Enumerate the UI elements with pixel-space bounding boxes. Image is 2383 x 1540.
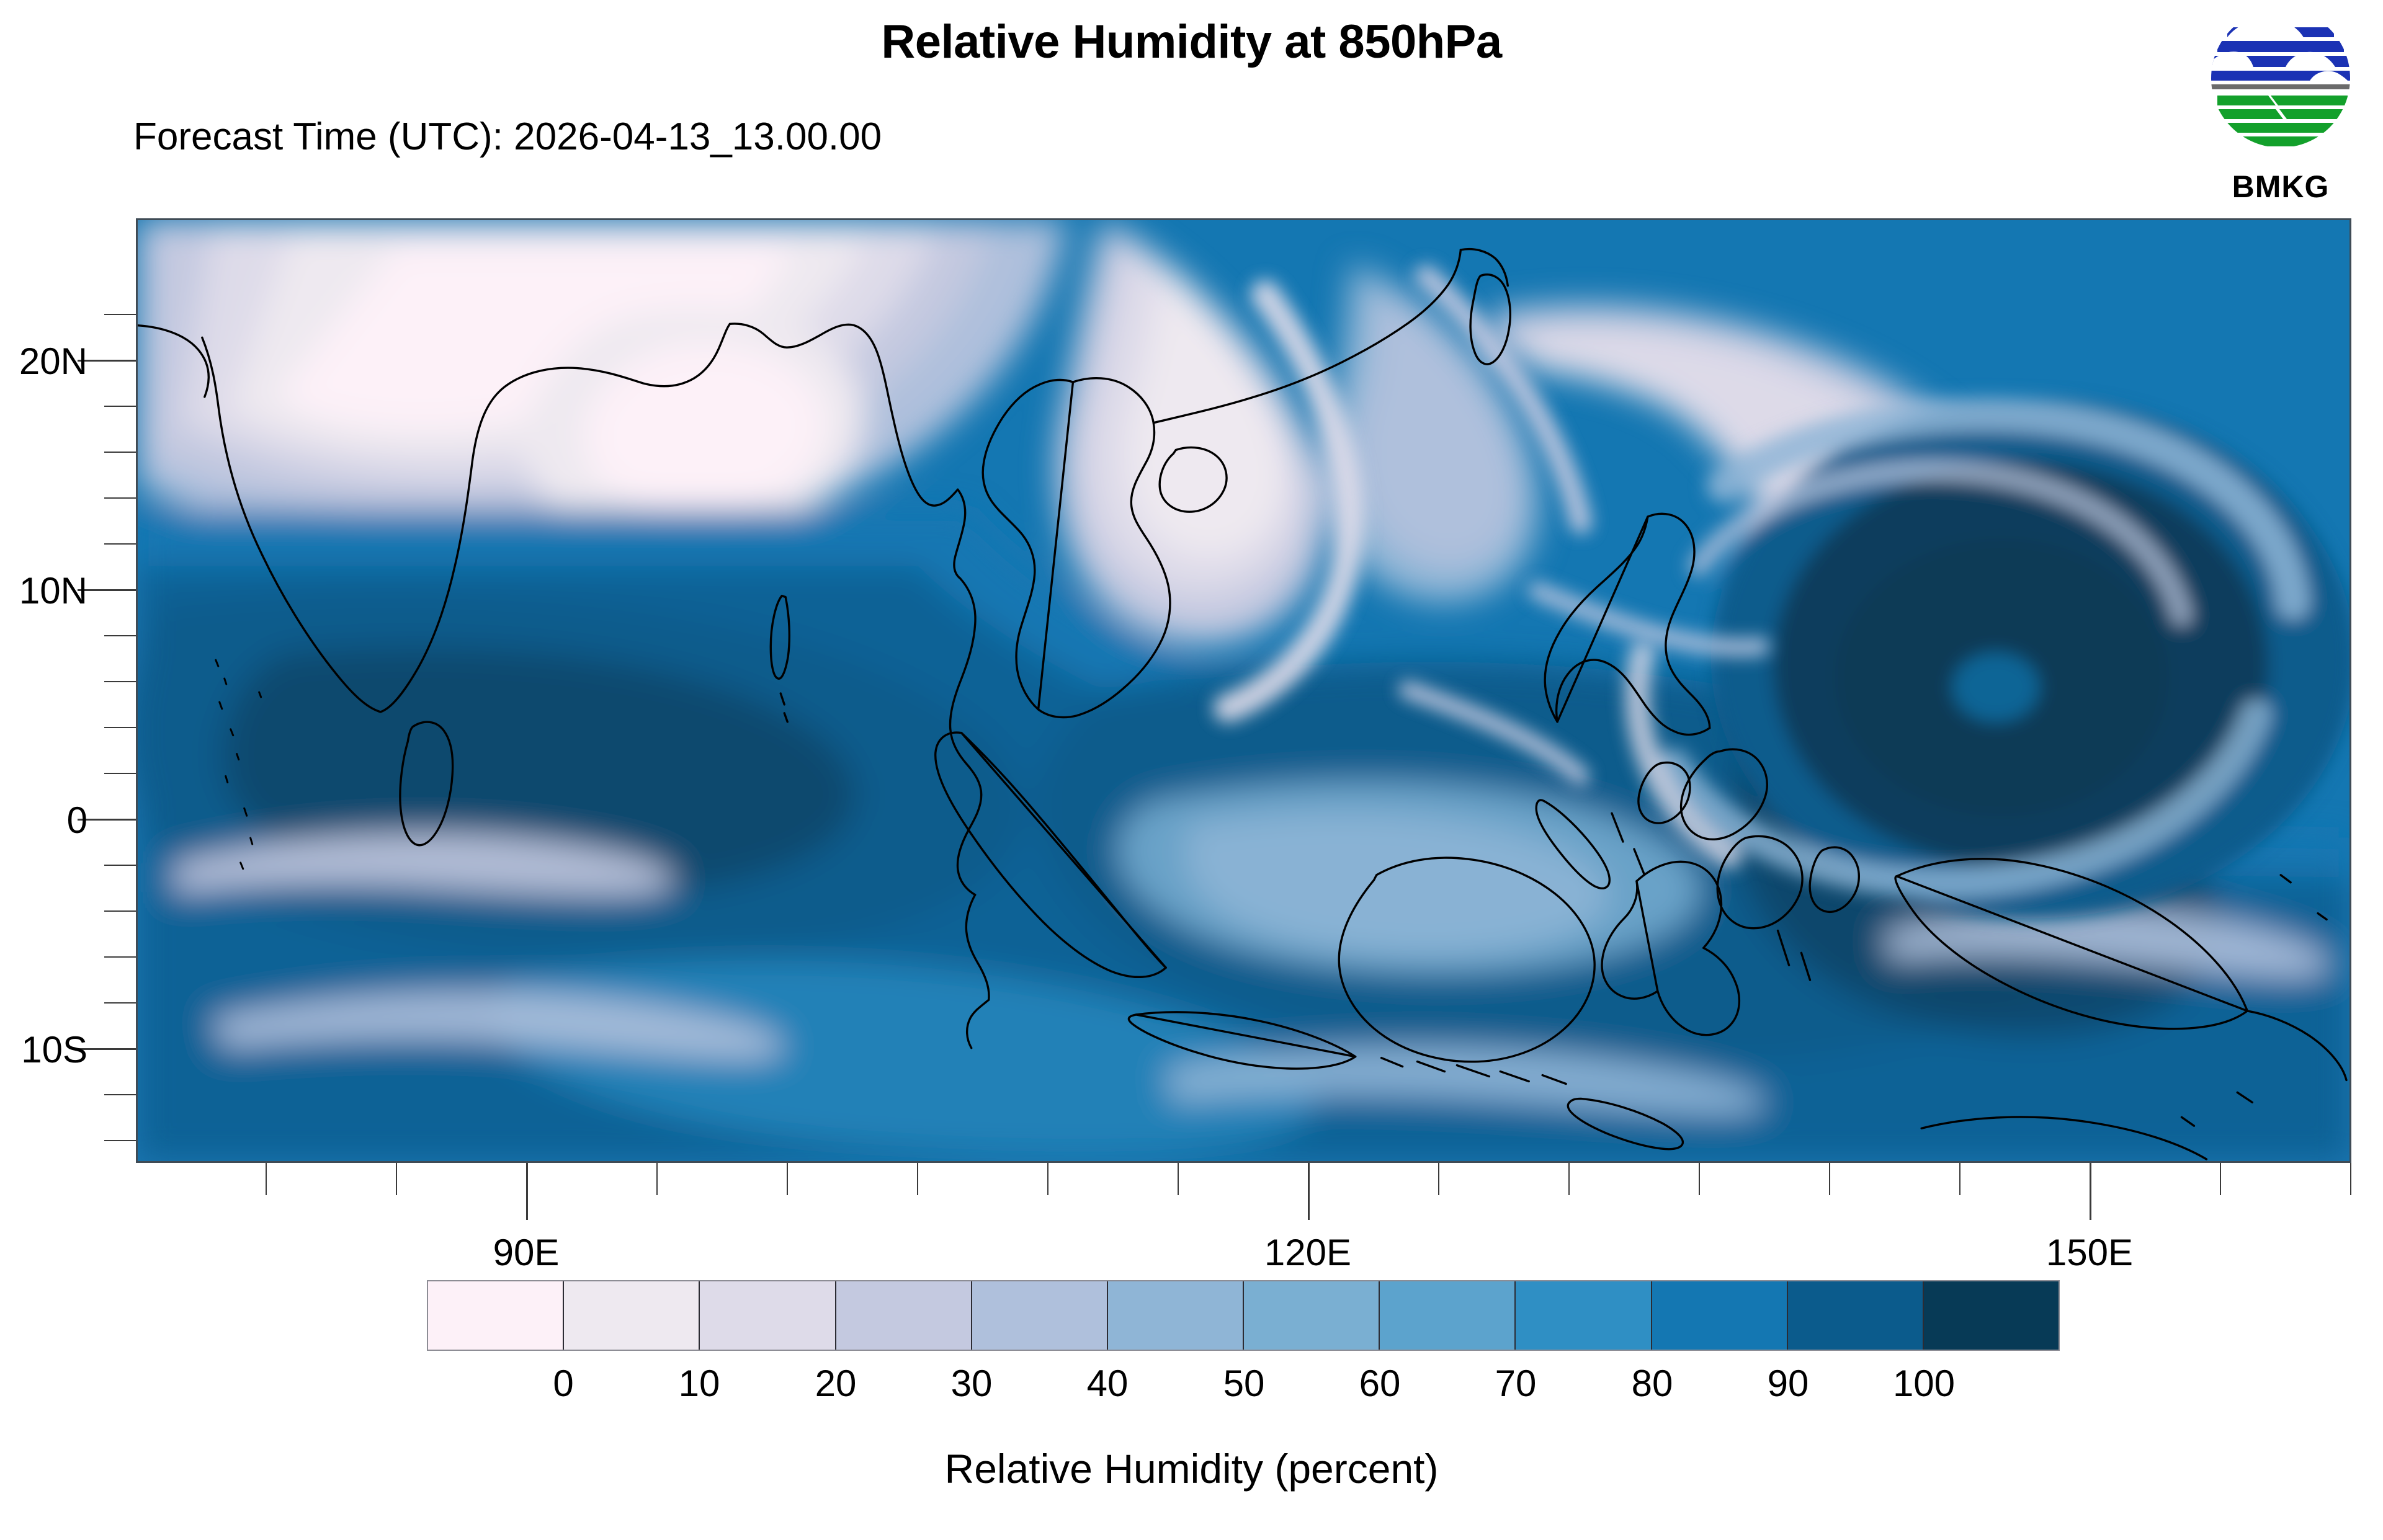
- colorbar-cell-10: [1788, 1281, 1924, 1350]
- colorbar-cell-7: [1380, 1281, 1516, 1350]
- xtick-label-150e: 150E: [1996, 1231, 2183, 1274]
- colorbar-cell-8: [1516, 1281, 1652, 1350]
- humidity-field: [138, 220, 2349, 1161]
- page-title: Relative Humidity at 850hPa: [0, 15, 2383, 69]
- ytick-label-10n: 10N: [0, 569, 87, 612]
- ytick-label-20n: 20N: [0, 340, 87, 383]
- xtick-minor: [1959, 1163, 1960, 1195]
- colorbar[interactable]: [427, 1280, 2060, 1351]
- tropical-cyclone-swirl: [1637, 399, 2349, 919]
- ytick-minor: [104, 865, 136, 866]
- ytick-minor: [104, 1094, 136, 1095]
- colorbar-cell-6: [1244, 1281, 1380, 1350]
- xtick-minor: [656, 1163, 658, 1195]
- xtick-minor: [396, 1163, 397, 1195]
- ytick-minor: [104, 543, 136, 545]
- colorbar-cell-2: [700, 1281, 836, 1350]
- ytick-minor: [104, 452, 136, 453]
- colorbar-cell-11: [1924, 1281, 2059, 1350]
- bmkg-wordmark: BMKG: [2206, 169, 2355, 205]
- ytick-minor: [104, 727, 136, 728]
- ytick-minor: [104, 956, 136, 958]
- colorbar-cell-3: [836, 1281, 972, 1350]
- colorbar-cell-1: [564, 1281, 700, 1350]
- xtick-minor: [1699, 1163, 1700, 1195]
- xtick-major-120e: [1308, 1163, 1310, 1220]
- xtick-minor: [787, 1163, 788, 1195]
- logo-divider: [2206, 84, 2355, 89]
- xtick-minor: [1829, 1163, 1830, 1195]
- colorbar-cell-5: [1108, 1281, 1244, 1350]
- xtick-minor: [917, 1163, 918, 1195]
- ytick-minor: [104, 681, 136, 682]
- ytick-minor: [104, 1140, 136, 1141]
- forecast-time-label: Forecast Time (UTC): 2026-04-13_13.00.00: [133, 115, 882, 159]
- xtick-minor: [1568, 1163, 1570, 1195]
- xtick-label-120e: 120E: [1215, 1231, 1401, 1274]
- colorbar-cell-0: [428, 1281, 564, 1350]
- land-stripes-icon: [2215, 96, 2350, 160]
- xtick-minor: [266, 1163, 267, 1195]
- ytick-minor: [104, 497, 136, 499]
- xtick-major-150e: [2090, 1163, 2091, 1220]
- ytick-minor: [104, 314, 136, 315]
- xtick-minor: [1047, 1163, 1048, 1195]
- ytick-minor: [104, 1002, 136, 1004]
- map-plot-area[interactable]: [136, 218, 2351, 1163]
- colorbar-cell-9: [1652, 1281, 1788, 1350]
- colorbar-tick-100: 100: [1843, 1362, 2005, 1405]
- xtick-minor: [2220, 1163, 2221, 1195]
- page-root: Relative Humidity at 850hPa Forecast Tim…: [0, 0, 2383, 1540]
- xtick-label-90e: 90E: [433, 1231, 619, 1274]
- xtick-minor: [2350, 1163, 2351, 1195]
- xtick-minor: [1178, 1163, 1179, 1195]
- colorbar-title: Relative Humidity (percent): [0, 1445, 2383, 1492]
- ytick-minor: [104, 910, 136, 912]
- logo-emblem: [2206, 5, 2355, 160]
- ytick-minor: [104, 773, 136, 774]
- colorbar-gradient[interactable]: [427, 1280, 2060, 1351]
- xtick-minor: [1438, 1163, 1439, 1195]
- colorbar-cell-4: [972, 1281, 1108, 1350]
- xtick-major-90e: [526, 1163, 528, 1220]
- ytick-label-0: 0: [0, 799, 87, 842]
- ytick-label-10s: 10S: [0, 1028, 87, 1071]
- ytick-minor: [104, 406, 136, 407]
- ytick-minor: [104, 635, 136, 636]
